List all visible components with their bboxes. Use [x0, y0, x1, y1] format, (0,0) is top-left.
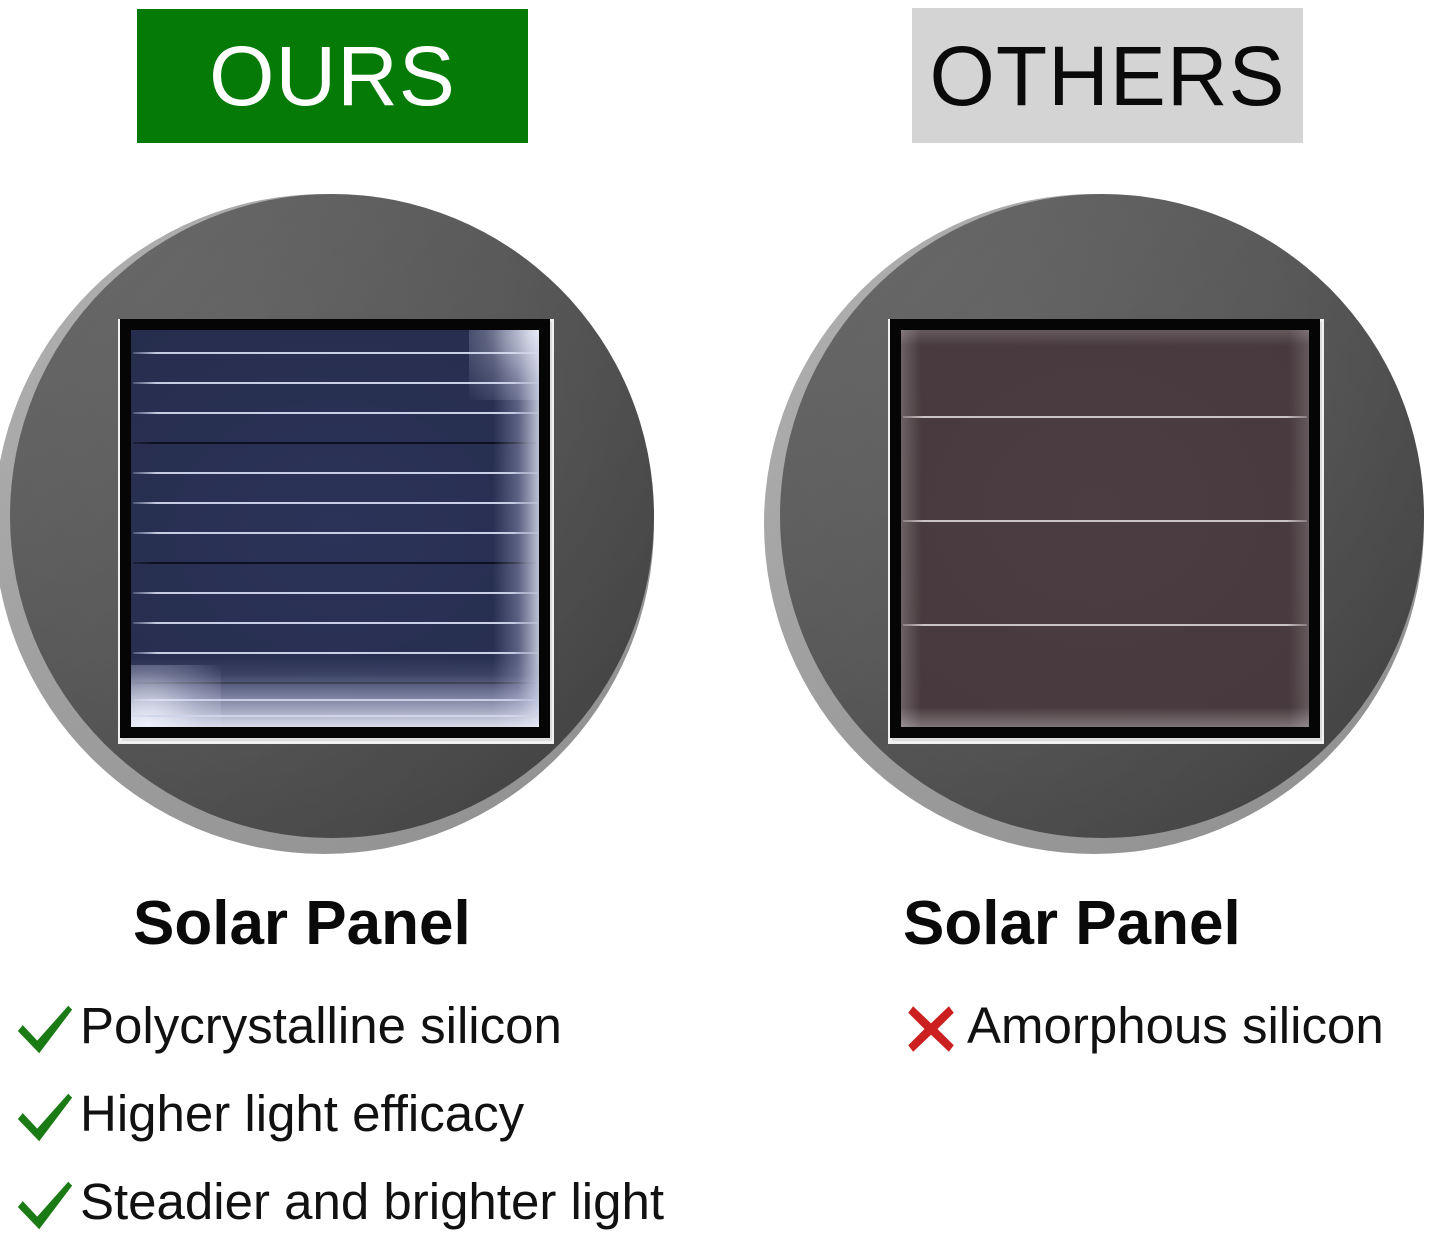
busbar-line: [133, 592, 537, 594]
feature-list-ours: Polycrystalline silicon Higher light eff…: [14, 995, 714, 1259]
busbar-line: [133, 502, 537, 504]
feature-label: Higher light efficacy: [80, 1083, 524, 1145]
ours-badge: OURS: [137, 9, 528, 143]
solar-panel-others: [890, 319, 1320, 738]
list-item: Higher light efficacy: [14, 1083, 714, 1171]
busbar-line: [133, 532, 537, 534]
feature-label: Polycrystalline silicon: [80, 995, 562, 1057]
feature-list-others: Amorphous silicon: [905, 995, 1425, 1083]
feature-label: Amorphous silicon: [967, 995, 1384, 1057]
check-icon: [14, 1087, 76, 1149]
busbar-line: [133, 622, 537, 624]
cell-divider-line: [133, 442, 537, 444]
list-item: Polycrystalline silicon: [14, 995, 714, 1083]
list-item: Amorphous silicon: [905, 995, 1425, 1083]
solar-cell-ours: [131, 330, 539, 727]
others-badge-label: OTHERS: [929, 34, 1285, 118]
solar-cell-others: [901, 330, 1309, 727]
cross-icon: [905, 1003, 957, 1055]
busbar-line: [133, 652, 537, 654]
panel-caption-others: Solar Panel: [903, 893, 1241, 955]
feature-label: Steadier and brighter light: [80, 1171, 664, 1233]
list-item: Steadier and brighter light: [14, 1171, 714, 1259]
ours-badge-label: OURS: [209, 34, 456, 118]
cell-glow-top-right: [469, 330, 539, 400]
busbar-line: [133, 715, 537, 717]
cell-divider-line: [133, 562, 537, 564]
others-badge: OTHERS: [912, 8, 1303, 143]
solar-panel-ours: [120, 319, 550, 738]
cell-edge-highlight: [901, 330, 1309, 727]
busbar-line: [133, 412, 537, 414]
cell-glow-bottom-left: [131, 665, 221, 727]
solar-light-disc-ours: [0, 194, 662, 862]
check-icon: [14, 999, 76, 1061]
solar-light-disc-others: [764, 194, 1431, 862]
check-icon: [14, 1175, 76, 1237]
busbar-line: [133, 472, 537, 474]
panel-caption-ours: Solar Panel: [133, 893, 471, 955]
